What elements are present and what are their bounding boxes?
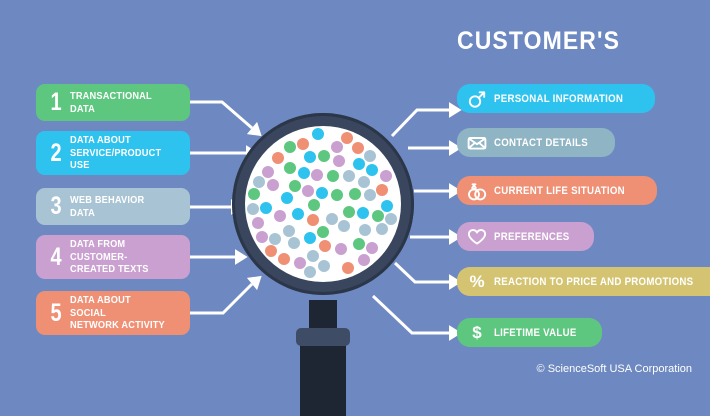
customer-attribute-label: PERSONAL INFORMATION <box>494 93 623 105</box>
connector-line <box>395 263 449 282</box>
lens-dot <box>335 243 347 255</box>
lens-dot <box>311 169 323 181</box>
lens-dot <box>352 142 364 154</box>
lens-dot <box>308 199 320 211</box>
lens-dot <box>343 206 355 218</box>
customer-attribute-card[interactable]: CURRENT LIFE SITUATION <box>457 176 657 205</box>
customer-attribute-card[interactable]: PREFERENCES <box>457 222 594 251</box>
customer-attribute-label: LIFETIME VALUE <box>494 327 577 339</box>
lens-dot <box>376 184 388 196</box>
data-source-card-4[interactable]: 4DATA FROM CUSTOMER-CREATED TEXTS <box>36 235 190 279</box>
customer-attribute-label: REACTION TO PRICE AND PROMOTIONS <box>494 276 693 288</box>
lens-dot <box>304 266 316 278</box>
lens-dot <box>376 223 388 235</box>
lens-dot <box>307 250 319 262</box>
lens-dot <box>265 245 277 257</box>
connector-line <box>392 110 449 136</box>
lens-dot <box>288 237 300 249</box>
lens-dot <box>248 188 260 200</box>
lens-dot <box>302 185 314 197</box>
lens-dot <box>333 155 345 167</box>
lens-dot <box>327 170 339 182</box>
heart-icon <box>467 227 487 247</box>
lens-dot <box>385 213 397 225</box>
infographic-canvas: 1TRANSACTIONAL DATA2DATA ABOUTSERVICE/PR… <box>0 0 710 416</box>
lens-dot <box>278 253 290 265</box>
customer-attribute-label: PREFERENCES <box>494 231 570 243</box>
lens-dot <box>312 128 324 140</box>
customer-attribute-card[interactable]: %REACTION TO PRICE AND PROMOTIONS <box>457 267 710 296</box>
lens-dot <box>262 166 274 178</box>
lens-dot <box>304 151 316 163</box>
data-source-card-3[interactable]: 3WEB BEHAVIOR DATA <box>36 188 190 225</box>
data-source-label: DATA ABOUT SOCIALNETWORK ACTIVITY <box>70 294 169 331</box>
lens-dot <box>256 231 268 243</box>
data-source-label: DATA FROM CUSTOMER-CREATED TEXTS <box>70 238 169 275</box>
lens-dot <box>317 226 329 238</box>
lens-dot <box>284 141 296 153</box>
lens-dot <box>267 179 279 191</box>
customer-attribute-label: CURRENT LIFE SITUATION <box>494 185 625 197</box>
lens-dot <box>316 187 328 199</box>
data-source-label: DATA ABOUTSERVICE/PRODUCT USE <box>70 134 169 171</box>
connector-line <box>190 284 252 313</box>
lens-dot <box>358 176 370 188</box>
customer-attribute-card[interactable]: PERSONAL INFORMATION <box>457 84 655 113</box>
dollar-icon: $ <box>467 323 487 343</box>
customer-attribute-label: CONTACT DETAILS <box>494 137 588 149</box>
lens-dot <box>318 260 330 272</box>
lens-dot <box>297 138 309 150</box>
lens-dot <box>381 200 393 212</box>
data-source-number: 1 <box>48 90 64 115</box>
lens-dot <box>343 170 355 182</box>
lens-dot <box>292 208 304 220</box>
lens-dot <box>357 207 369 219</box>
lens-dot <box>380 170 392 182</box>
magnifier-handle-collar <box>296 328 350 346</box>
mars-gender-icon <box>467 89 487 109</box>
lens-dot <box>372 210 384 222</box>
lens-dot <box>252 217 264 229</box>
lens-dot <box>349 188 361 200</box>
lens-dot <box>289 180 301 192</box>
connector-line <box>373 296 449 333</box>
customer-attribute-card[interactable]: CONTACT DETAILS <box>457 128 615 157</box>
lens-dot <box>331 141 343 153</box>
lens-dot <box>353 158 365 170</box>
lens-dot <box>353 238 365 250</box>
lens-dot <box>283 225 295 237</box>
envelope-icon <box>467 133 487 153</box>
lens-dot <box>281 192 293 204</box>
lens-dot <box>364 189 376 201</box>
lens-dot <box>269 233 281 245</box>
lens-dot <box>253 176 265 188</box>
magnifier-lens-dots <box>245 126 401 282</box>
customer-attribute-card[interactable]: $LIFETIME VALUE <box>457 318 602 347</box>
page-title: CUSTOMER'S <box>457 27 620 56</box>
percent-icon: % <box>467 272 487 292</box>
lens-dot <box>341 132 353 144</box>
copyright-notice: © ScienceSoft USA Corporation <box>537 363 692 375</box>
lens-dot <box>326 213 338 225</box>
lens-dot <box>318 150 330 162</box>
lens-dot <box>307 214 319 226</box>
magnifier-handle-grip <box>300 342 346 416</box>
lens-dot <box>331 189 343 201</box>
data-source-card-1[interactable]: 1TRANSACTIONAL DATA <box>36 84 190 121</box>
data-source-card-2[interactable]: 2DATA ABOUTSERVICE/PRODUCT USE <box>36 131 190 175</box>
lens-dot <box>364 150 376 162</box>
lens-dot <box>319 240 331 252</box>
wedding-rings-icon <box>467 181 487 201</box>
lens-dot <box>294 257 306 269</box>
lens-dot <box>284 162 296 174</box>
lens-dot <box>366 242 378 254</box>
lens-dot <box>272 152 284 164</box>
lens-dot <box>358 254 370 266</box>
lens-dot <box>359 224 371 236</box>
data-source-number: 2 <box>48 141 64 166</box>
connector-line <box>190 102 252 128</box>
data-source-number: 3 <box>48 194 64 219</box>
lens-dot <box>260 202 272 214</box>
data-source-label: TRANSACTIONAL DATA <box>70 90 169 115</box>
lens-dot <box>366 164 378 176</box>
lens-dot <box>247 203 259 215</box>
lens-dot <box>342 262 354 274</box>
lens-dot <box>298 167 310 179</box>
data-source-number: 4 <box>48 245 64 270</box>
lens-dot <box>304 232 316 244</box>
lens-dot <box>338 220 350 232</box>
data-source-card-5[interactable]: 5DATA ABOUT SOCIALNETWORK ACTIVITY <box>36 291 190 335</box>
data-source-number: 5 <box>48 301 64 326</box>
data-source-label: WEB BEHAVIOR DATA <box>70 194 169 219</box>
lens-dot <box>274 210 286 222</box>
